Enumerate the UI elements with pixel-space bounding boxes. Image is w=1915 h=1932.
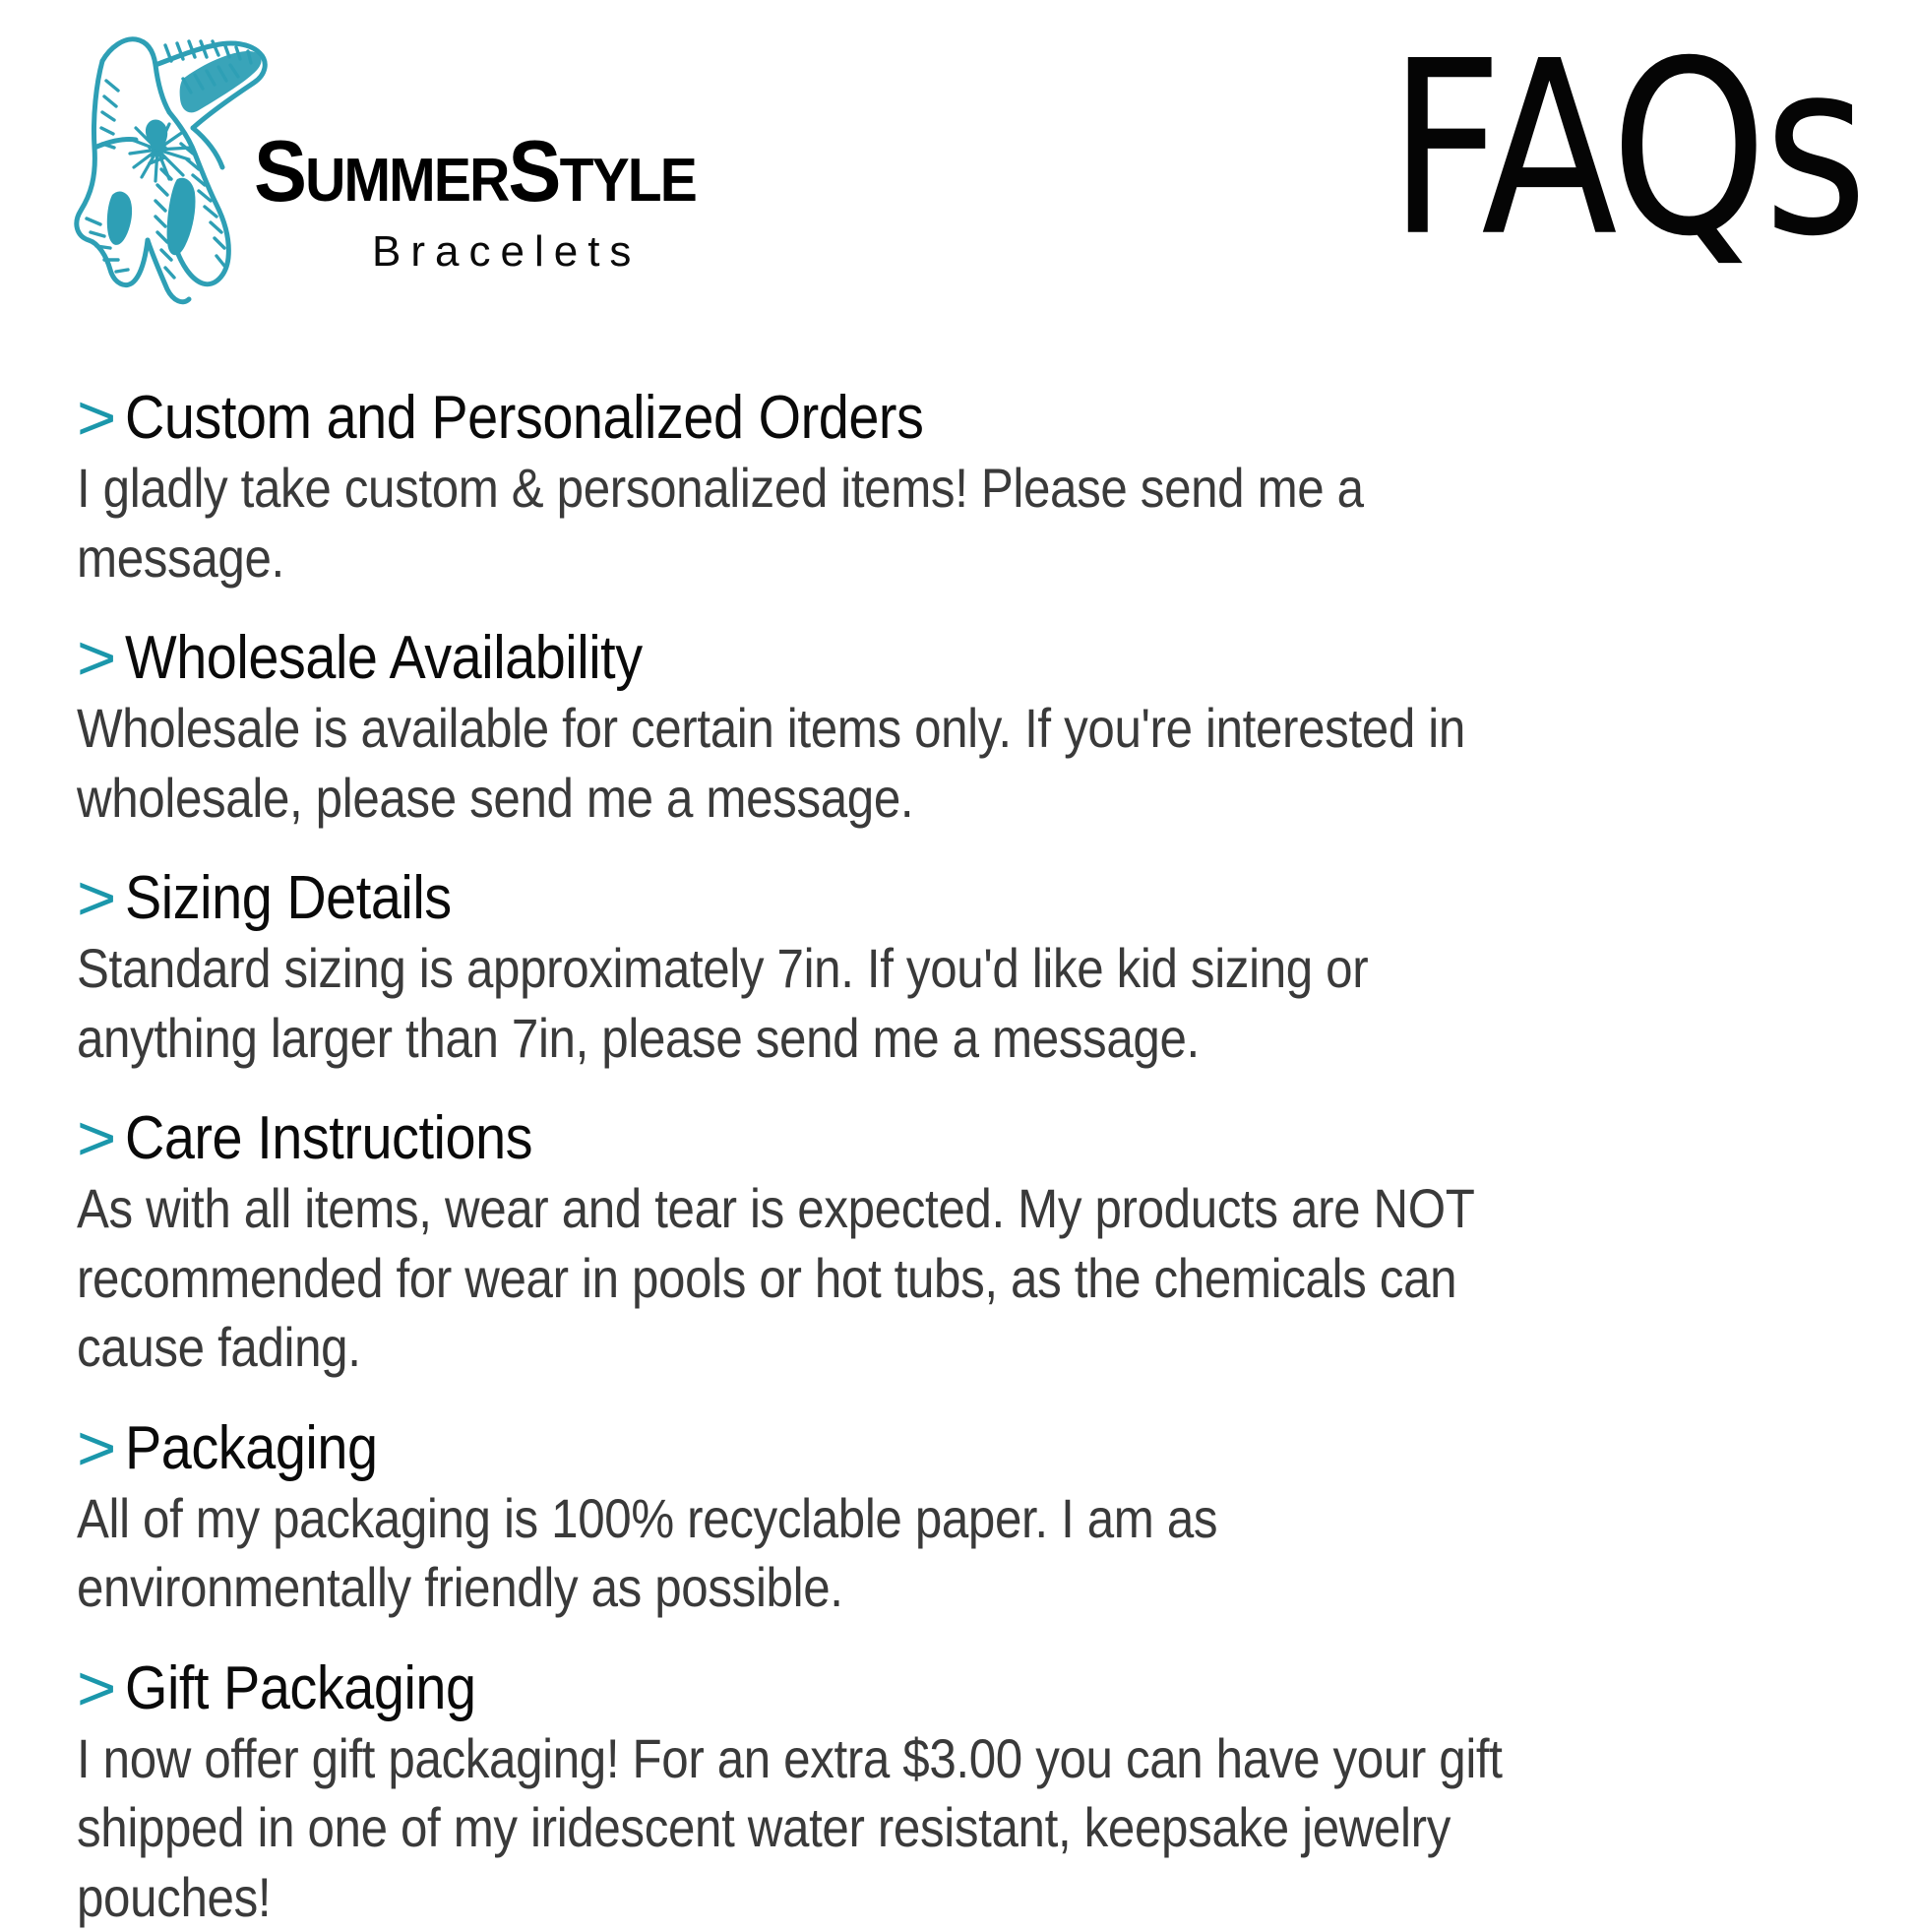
- chevron-right-icon: >: [77, 1416, 116, 1480]
- faq-item-packaging: > Packaging All of my packaging is 100% …: [77, 1416, 1846, 1623]
- faq-heading: > Custom and Personalized Orders: [77, 386, 1846, 452]
- faq-heading: > Sizing Details: [77, 866, 1846, 932]
- starfish-icon: [67, 22, 272, 307]
- page-header: SummerStyle Bracelets FAQs: [0, 0, 1915, 325]
- faq-item-sizing-details: > Sizing Details Standard sizing is appr…: [77, 866, 1846, 1073]
- wordmark-primary: SummerStyle: [254, 132, 696, 212]
- chevron-right-icon: >: [77, 1656, 116, 1720]
- faq-page: SummerStyle Bracelets FAQs > Custom and …: [0, 0, 1915, 1915]
- faq-heading-label: Sizing Details: [125, 866, 452, 932]
- faq-heading: > Packaging: [77, 1416, 1846, 1482]
- chevron-right-icon: >: [77, 867, 116, 931]
- faq-heading-label: Wholesale Availability: [125, 626, 643, 692]
- faq-heading: > Wholesale Availability: [77, 626, 1846, 692]
- faq-item-wholesale-availability: > Wholesale Availability Wholesale is av…: [77, 626, 1846, 833]
- page-title: FAQs: [1389, 45, 1864, 257]
- faq-body-text: I gladly take custom & personalized item…: [77, 454, 1549, 592]
- faq-list: > Custom and Personalized Orders I gladl…: [77, 386, 1846, 1932]
- brand-lockup: SummerStyle Bracelets: [67, 22, 734, 307]
- faq-heading-label: Gift Packaging: [125, 1656, 476, 1722]
- faq-heading-label: Custom and Personalized Orders: [125, 386, 923, 452]
- faq-item-gift-packaging: > Gift Packaging I now offer gift packag…: [77, 1656, 1846, 1932]
- faq-item-care-instructions: > Care Instructions As with all items, w…: [77, 1106, 1846, 1383]
- wordmark-block: SummerStyle Bracelets: [254, 22, 734, 277]
- faq-body-text: Standard sizing is approximately 7in. If…: [77, 934, 1549, 1073]
- faq-body-text: Wholesale is available for certain items…: [77, 694, 1549, 833]
- faq-body-text: As with all items, wear and tear is expe…: [77, 1174, 1549, 1383]
- chevron-right-icon: >: [77, 1107, 116, 1171]
- chevron-right-icon: >: [77, 387, 116, 451]
- faq-heading-label: Care Instructions: [125, 1106, 532, 1172]
- wordmark-secondary: Bracelets: [372, 227, 734, 277]
- faq-body-text: All of my packaging is 100% recyclable p…: [77, 1484, 1549, 1623]
- chevron-right-icon: >: [77, 627, 116, 691]
- faq-heading-label: Packaging: [125, 1416, 378, 1482]
- faq-heading: > Care Instructions: [77, 1106, 1846, 1172]
- faq-body-text: I now offer gift packaging! For an extra…: [77, 1724, 1549, 1932]
- faq-item-custom-and-personalized-orders: > Custom and Personalized Orders I gladl…: [77, 386, 1846, 592]
- faq-heading: > Gift Packaging: [77, 1656, 1846, 1722]
